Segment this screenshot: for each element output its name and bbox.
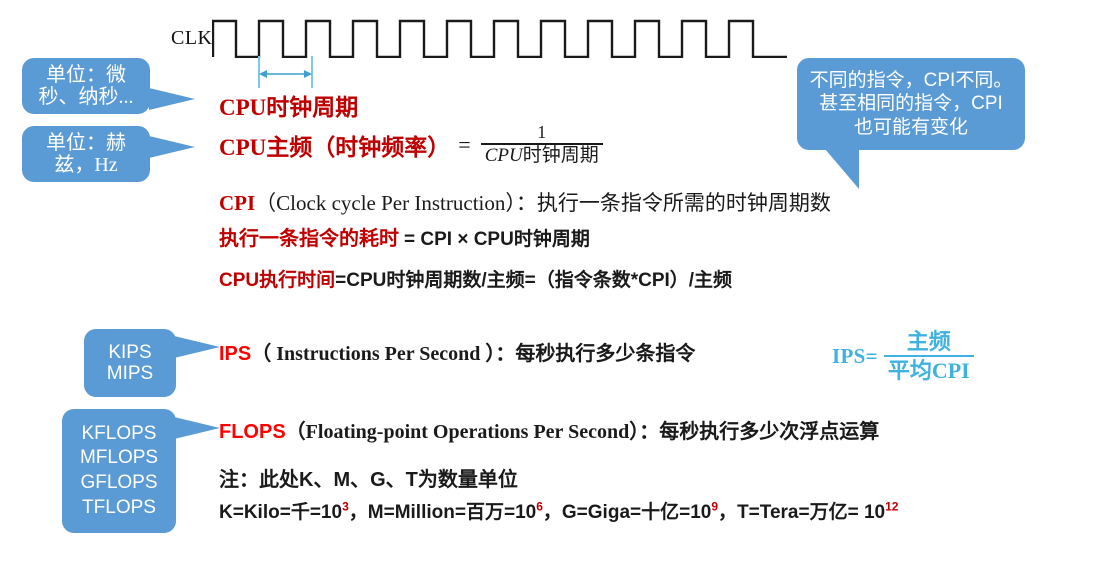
ips-formula: IPS= 主频 平均CPI xyxy=(832,330,974,382)
unit-value-base: =10 xyxy=(310,502,342,523)
callout-flops-units[interactable]: KFLOPS MFLOPS GFLOPS TFLOPS xyxy=(62,409,176,533)
unit-value-separator: ， xyxy=(543,502,562,523)
term-cpu-exec-time-key: CPU执行时间 xyxy=(219,270,335,291)
term-ips-expansion: （ Instructions Per Second ）： xyxy=(251,343,515,365)
unit-value-exponent: 3 xyxy=(342,500,349,514)
term-cpu-frequency: CPU主频（时钟频率） = 1 CPU时钟周期 xyxy=(219,124,603,167)
callout-ips-units-line-1: KIPS xyxy=(108,342,151,363)
ips-formula-fraction: 主频 平均CPI xyxy=(884,330,974,382)
term-instruction-cost-key: 执行一条指令的耗时 xyxy=(219,228,399,250)
term-cpi-description: 执行一条指令所需的时钟周期数 xyxy=(537,191,831,215)
unit-value-chinese: 十亿 xyxy=(641,502,679,523)
callout-frequency-unit-line-1: 单位：赫 xyxy=(46,132,126,154)
term-flops-description: 每秒执行多少次浮点运算 xyxy=(659,421,879,443)
term-ips-key: IPS xyxy=(219,343,251,365)
term-cpu-exec-time: CPU执行时间=CPU时钟周期数/主频=（指令条数*CPI）/主频 xyxy=(219,265,732,292)
callout-ips-units[interactable]: KIPS MIPS xyxy=(84,329,176,397)
unit-value-base: = 10 xyxy=(848,502,886,523)
clk-label: CLK xyxy=(171,27,213,50)
term-flops-expansion: （Floating-point Operations Per Second）： xyxy=(286,421,660,443)
callout-time-unit-line-1: 单位：微 xyxy=(46,64,126,86)
callout-flops-units-line-2: MFLOPS xyxy=(80,446,158,471)
callout-frequency-unit-tail xyxy=(149,136,195,158)
callout-flops-units-line-1: KFLOPS xyxy=(82,422,157,447)
unit-value-chinese: 万亿 xyxy=(810,502,848,523)
ips-formula-denominator: 平均CPI xyxy=(884,357,974,382)
term-clock-cycle: CPU时钟周期 xyxy=(219,88,358,122)
frequency-denominator-italic: CPU xyxy=(485,145,523,166)
unit-value-head: K=Kilo= xyxy=(219,502,291,523)
frequency-denominator: CPU时钟周期 xyxy=(481,145,603,166)
clock-period-marker xyxy=(212,56,342,90)
unit-value-head: M=Million= xyxy=(368,502,466,523)
equals-sign: = xyxy=(458,132,470,158)
callout-flops-units-tail xyxy=(174,417,220,439)
note-units: K、M、G、T xyxy=(299,469,418,491)
unit-value-t: T=Tera=万亿= 1012 xyxy=(737,502,898,523)
term-cpu-exec-time-rest: =CPU时钟周期数/主频=（指令条数*CPI）/主频 xyxy=(335,270,732,291)
unit-value-head: G=Giga= xyxy=(562,502,641,523)
callout-time-unit[interactable]: 单位：微 秒、纳秒... xyxy=(22,58,150,114)
callout-cpi-note[interactable]: 不同的指令，CPI不同。 甚至相同的指令，CPI 也可能有变化 xyxy=(797,58,1025,150)
unit-value-list: K=Kilo=千=103，M=Million=百万=106，G=Giga=十亿=… xyxy=(219,497,898,524)
callout-cpi-note-tail xyxy=(825,149,859,189)
unit-value-base: =10 xyxy=(504,502,536,523)
term-ips: IPS（ Instructions Per Second ）：每秒执行多少条指令 xyxy=(219,337,695,366)
callout-ips-units-tail xyxy=(174,336,220,358)
unit-value-chinese: 百万 xyxy=(466,502,504,523)
ips-formula-numerator: 主频 xyxy=(899,330,959,355)
unit-value-chinese: 千 xyxy=(291,502,310,523)
term-instruction-cost: 执行一条指令的耗时 = CPI × CPU时钟周期 xyxy=(219,222,590,251)
unit-value-exponent: 6 xyxy=(536,500,543,514)
note-prefix: 注：此处 xyxy=(219,469,299,491)
callout-cpi-note-line-1: 不同的指令，CPI不同。 xyxy=(810,69,1013,92)
unit-value-separator: ， xyxy=(718,502,737,523)
unit-value-m: M=Million=百万=106 xyxy=(368,502,543,523)
term-cpi-expansion: （Clock cycle Per Instruction）： xyxy=(255,191,537,215)
clock-waveform xyxy=(212,18,792,58)
ips-formula-label: IPS= xyxy=(832,344,878,369)
callout-time-unit-tail xyxy=(149,88,195,110)
term-cpi: CPI（Clock cycle Per Instruction）：执行一条指令所… xyxy=(219,187,831,217)
callout-cpi-note-line-2: 甚至相同的指令，CPI xyxy=(819,92,1003,115)
unit-value-exponent: 12 xyxy=(885,500,898,514)
unit-value-k: K=Kilo=千=103 xyxy=(219,502,349,523)
callout-flops-units-line-3: GFLOPS xyxy=(80,471,157,496)
frequency-fraction: 1 CPU时钟周期 xyxy=(481,123,603,166)
slide-canvas: CLK 单位：微 秒、纳秒... 单位：赫 兹，Hz 不同的指令，CPI不同。 … xyxy=(0,0,1106,561)
unit-value-separator: ， xyxy=(349,502,368,523)
frequency-denominator-rest: 时钟周期 xyxy=(523,145,599,166)
callout-frequency-unit-line-2: 兹，Hz xyxy=(54,154,117,176)
term-instruction-cost-rest: = CPI × CPU时钟周期 xyxy=(404,229,590,250)
term-ips-description: 每秒执行多少条指令 xyxy=(515,343,695,365)
term-flops-key: FLOPS xyxy=(219,421,286,443)
term-cpi-key: CPI xyxy=(219,191,255,215)
note-suffix: 为数量单位 xyxy=(418,469,518,491)
unit-value-g: G=Giga=十亿=109 xyxy=(562,502,718,523)
term-flops: FLOPS（Floating-point Operations Per Seco… xyxy=(219,415,879,444)
callout-cpi-note-line-3: 也可能有变化 xyxy=(854,116,968,139)
callout-ips-units-line-2: MIPS xyxy=(107,363,153,384)
frequency-numerator: 1 xyxy=(531,123,552,143)
callout-time-unit-line-2: 秒、纳秒... xyxy=(39,86,134,108)
unit-value-base: =10 xyxy=(679,502,711,523)
callout-frequency-unit[interactable]: 单位：赫 兹，Hz xyxy=(22,126,150,182)
note-unit-scale: 注：此处K、M、G、T为数量单位 xyxy=(219,463,518,492)
unit-value-head: T=Tera= xyxy=(737,502,810,523)
callout-flops-units-line-4: TFLOPS xyxy=(82,496,156,521)
term-cpu-frequency-label: CPU主频（时钟频率） xyxy=(219,128,450,162)
